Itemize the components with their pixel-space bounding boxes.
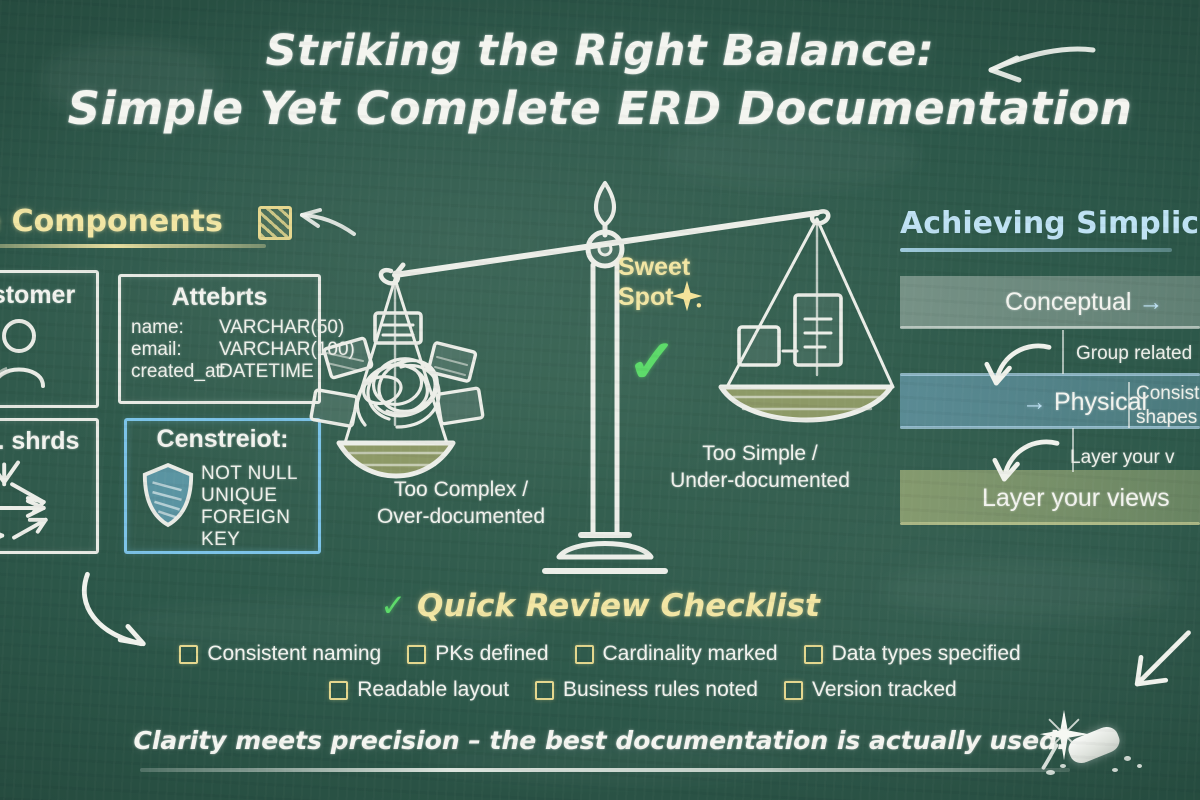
chalk-dust (1046, 770, 1055, 775)
checkbox-icon[interactable] (329, 681, 348, 700)
checklist-item-label: Version tracked (812, 678, 957, 702)
checklist-item[interactable]: Consistent naming (179, 642, 381, 666)
checklist-item[interactable]: Readable layout (329, 678, 509, 702)
arrow-left-icon (965, 44, 1095, 96)
checklist-item[interactable]: Business rules noted (535, 678, 758, 702)
checklist-item-label: Business rules noted (563, 678, 758, 702)
chalk-dust (1112, 768, 1118, 772)
checklist-row-2: Readable layout Business rules noted Ver… (0, 678, 1200, 702)
checkbox-icon[interactable] (575, 645, 594, 664)
chalk-dust (1124, 756, 1131, 761)
attribute-row: name:VARCHAR(50) (131, 317, 318, 339)
attribute-key: email: (131, 339, 219, 361)
constraint-item: NOT NULL (201, 463, 318, 485)
attributes-list: name:VARCHAR(50) email:VARCHAR(100) crea… (121, 317, 318, 383)
checklist-item[interactable]: Version tracked (784, 678, 957, 702)
checkbox-icon[interactable] (784, 681, 803, 700)
constraints-list: NOT NULL UNIQUE FOREIGN KEY (201, 463, 318, 551)
band-divider (900, 522, 1200, 525)
constraints-box: Censtreiot: NOT NULL UNIQUE FOREIGN KEY (124, 418, 321, 554)
checklist-item-label: Readable layout (357, 678, 509, 702)
yellow-hatched-square-icon (258, 206, 292, 240)
tangled-scribble-icon (311, 313, 483, 427)
checklist-title-text: Quick Review Checklist (417, 588, 820, 624)
band-connector (1062, 330, 1064, 374)
chalk-dust (1137, 764, 1142, 768)
shield-icon (139, 461, 197, 529)
checklist-item[interactable]: PKs defined (407, 642, 548, 666)
relationship-box-title: 6. shrds (0, 427, 96, 456)
attribute-type: DATETIME (219, 361, 314, 382)
attribute-row: created_at:DATETIME (131, 361, 318, 383)
chalk-dust (1060, 764, 1066, 768)
right-heading-underline (900, 248, 1172, 252)
row-note-layer-views: Layer your v (1070, 446, 1175, 470)
curved-arrow-down-right-icon (72, 566, 178, 654)
checkbox-icon[interactable] (407, 645, 426, 664)
too-complex-caption: Too Complex / Over-documented (366, 476, 556, 530)
left-panel-heading: re Components (0, 204, 223, 239)
too-simple-line-1: Too Simple / (655, 440, 865, 467)
consistent-shapes-line-2: shapes (1136, 406, 1199, 430)
physical-text: Physical (1054, 388, 1147, 416)
constraint-item: FOREIGN KEY (201, 507, 318, 551)
checkbox-icon[interactable] (804, 645, 823, 664)
checklist-item-label: PKs defined (435, 642, 548, 666)
attribute-type: VARCHAR(50) (219, 317, 344, 338)
sparkle-icon (670, 279, 704, 313)
row-note-consistent-shapes: Consist shapes (1136, 382, 1199, 430)
constraints-box-title: Censtreiot: (127, 425, 318, 454)
constraint-item: UNIQUE (201, 485, 318, 507)
too-complex-line-2: Over-documented (366, 503, 556, 530)
attribute-key: name: (131, 317, 219, 339)
row-note-group-related: Group related (1076, 342, 1192, 366)
checkbox-icon[interactable] (535, 681, 554, 700)
crows-foot-notation-icon (0, 459, 99, 551)
footer-tagline: Clarity meets precision – the best docum… (0, 726, 1200, 755)
conceptual-text: Conceptual (1005, 288, 1131, 316)
consistent-shapes-line-1: Consist (1136, 382, 1199, 406)
entity-box-title: stomer (0, 281, 96, 310)
too-complex-line-1: Too Complex / (366, 476, 556, 503)
checklist-item-label: Data types specified (832, 642, 1021, 666)
arrow-right-icon: → (1138, 288, 1163, 316)
chalkboard-surface: Striking the Right Balance: Simple Yet C… (0, 0, 1200, 800)
right-panel-heading: Achieving Simplicit (900, 206, 1200, 241)
checklist-title: ✓ Quick Review Checklist (0, 588, 1200, 624)
curved-arrow-down-icon (986, 432, 1064, 498)
checklist-row-1: Consistent naming PKs defined Cardinalit… (0, 642, 1200, 666)
too-simple-caption: Too Simple / Under-documented (655, 440, 865, 494)
curved-arrow-down-icon (978, 336, 1056, 402)
check-mark-icon: ✓ (627, 332, 677, 392)
entity-box: stomer (0, 270, 99, 408)
check-mark-icon: ✓ (380, 588, 406, 624)
checklist-item-label: Consistent naming (207, 642, 381, 666)
band-divider (900, 326, 1200, 329)
left-heading-underline (0, 244, 266, 248)
footer-underline (140, 768, 1070, 772)
row-label-conceptual: Conceptual → (1005, 288, 1163, 317)
attributes-box-title: Attebrts (121, 283, 318, 312)
sweet-spot-line-1: Sweet (618, 252, 738, 282)
sweet-spot-line-2: Spot (618, 283, 674, 311)
attributes-box: Attebrts name:VARCHAR(50) email:VARCHAR(… (118, 274, 321, 404)
checklist-item[interactable]: Cardinality marked (575, 642, 778, 666)
checklist-item-label: Cardinality marked (603, 642, 778, 666)
attribute-key: created_at: (131, 361, 219, 383)
person-icon (0, 317, 69, 389)
checklist-item[interactable]: Data types specified (804, 642, 1021, 666)
sweet-spot-label: Sweet Spot (618, 252, 738, 312)
attribute-row: email:VARCHAR(100) (131, 339, 318, 361)
relationship-box: 6. shrds (0, 418, 99, 554)
too-simple-line-2: Under-documented (655, 467, 865, 494)
checkbox-icon[interactable] (179, 645, 198, 664)
